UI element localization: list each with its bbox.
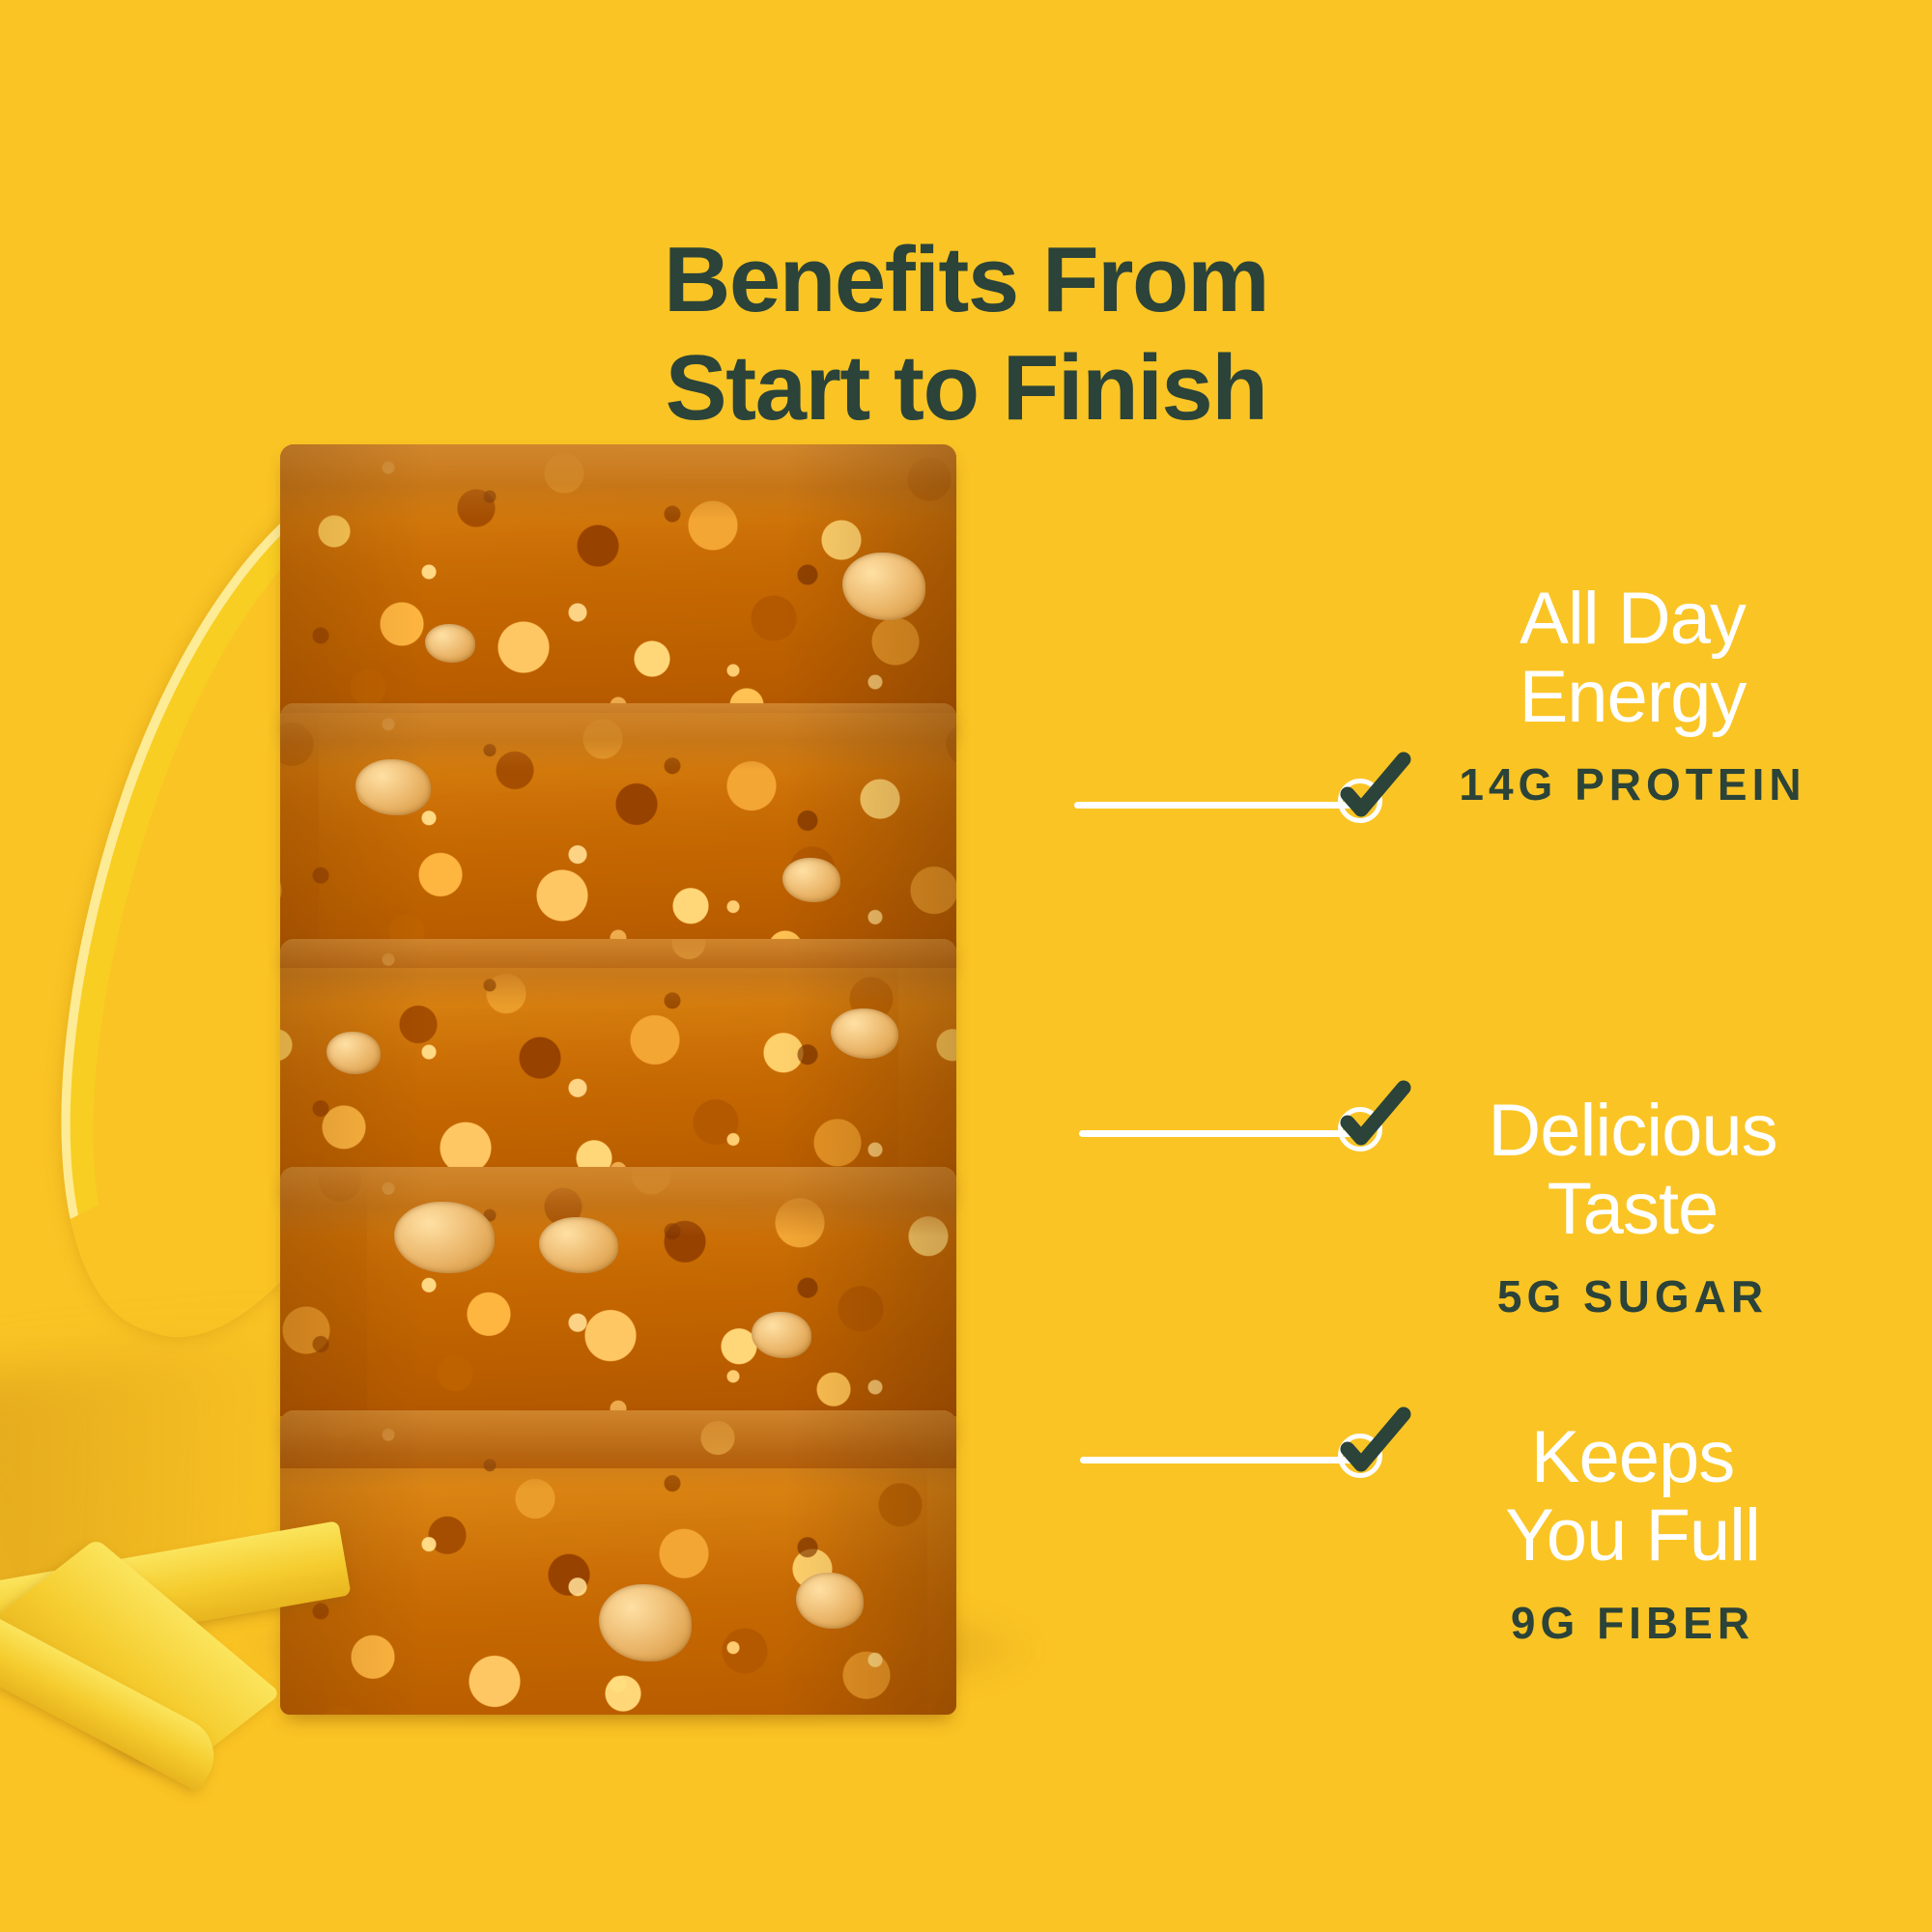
callout-all-day-energy: All Day Energy 14G PROTEIN <box>1343 580 1922 810</box>
nut-chunk <box>327 1032 381 1074</box>
product-photo <box>0 415 1140 1729</box>
protein-bar-5 <box>280 1410 956 1715</box>
leader-line-3 <box>1080 1457 1364 1463</box>
callout-stat: 9G FIBER <box>1343 1597 1922 1649</box>
callout-title-line-1: Keeps <box>1343 1418 1922 1496</box>
protein-bar-2 <box>280 703 956 964</box>
callout-title-line-2: You Full <box>1343 1496 1922 1575</box>
callout-stat: 14G PROTEIN <box>1343 758 1922 810</box>
callout-stat: 5G SUGAR <box>1343 1270 1922 1322</box>
callout-title: All Day Energy <box>1343 580 1922 737</box>
protein-bar-3 <box>280 939 956 1196</box>
nut-chunk <box>425 624 475 663</box>
callout-title-line-1: Delicious <box>1343 1092 1922 1170</box>
protein-bar-1 <box>280 444 956 734</box>
nut-chunk <box>796 1573 864 1629</box>
callout-title-line-1: All Day <box>1343 580 1922 658</box>
callout-title: Delicious Taste <box>1343 1092 1922 1249</box>
callout-title-line-2: Taste <box>1343 1170 1922 1248</box>
bar-stack <box>280 444 956 1715</box>
benefits-infographic: Benefits From Start to Finish <box>0 0 1932 1932</box>
callout-keeps-you-full: Keeps You Full 9G FIBER <box>1343 1418 1922 1649</box>
leader-line-2 <box>1079 1130 1364 1137</box>
callout-title-line-2: Energy <box>1343 658 1922 736</box>
callout-title: Keeps You Full <box>1343 1418 1922 1576</box>
protein-bar-4 <box>280 1167 956 1435</box>
page-title: Benefits From Start to Finish <box>0 226 1932 441</box>
page-title-line-1: Benefits From <box>0 226 1932 333</box>
callout-delicious-taste: Delicious Taste 5G SUGAR <box>1343 1092 1922 1322</box>
nut-chunk <box>782 858 840 902</box>
leader-line-1 <box>1074 802 1364 809</box>
nut-chunk <box>831 1009 898 1059</box>
nut-chunk <box>752 1312 811 1358</box>
